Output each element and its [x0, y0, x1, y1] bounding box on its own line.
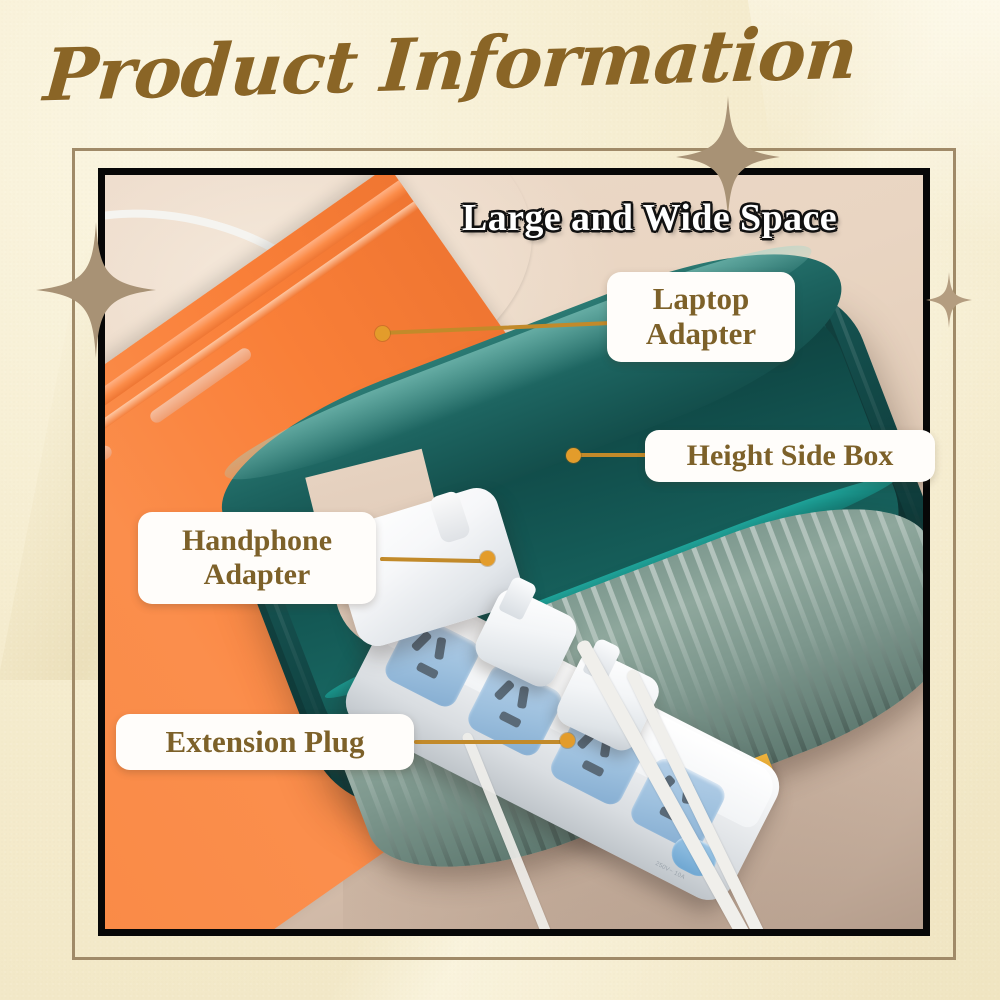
callout-height-side-box[interactable]: Height Side Box: [645, 430, 935, 482]
infographic-canvas: Product Information: [0, 0, 1000, 1000]
leader-dot-handphone-adapter: [480, 551, 495, 566]
leader-dot-extension-plug: [560, 733, 575, 748]
leader-dot-laptop-adapter: [375, 326, 390, 341]
leader-line-extension-plug: [414, 740, 574, 744]
callout-handphone-adapter[interactable]: Handphone Adapter: [138, 512, 376, 604]
leader-dot-height-side-box: [566, 448, 581, 463]
headline-text: Large and Wide Space: [462, 196, 837, 240]
sparkle-icon: [36, 222, 156, 358]
sparkle-icon: [926, 272, 972, 328]
callout-laptop-adapter[interactable]: Laptop Adapter: [607, 272, 795, 362]
callout-extension-plug[interactable]: Extension Plug: [116, 714, 414, 770]
